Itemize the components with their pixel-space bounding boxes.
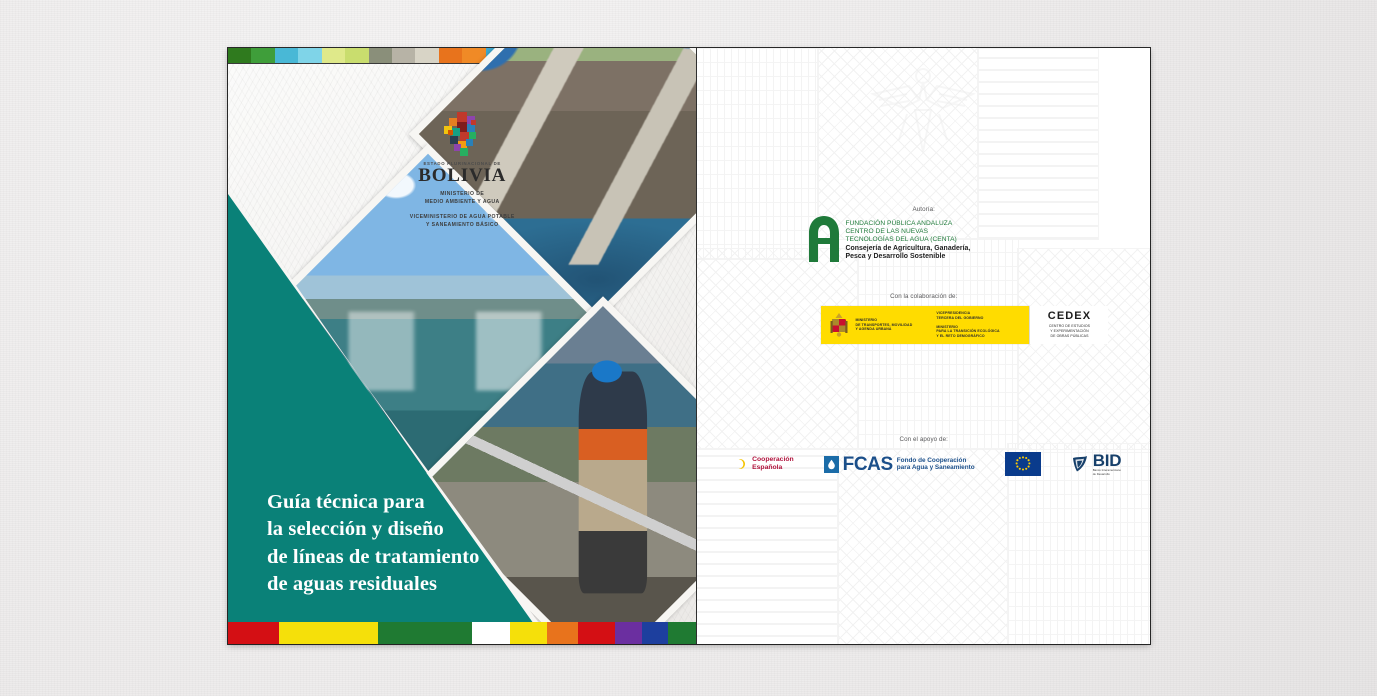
- cover-title: Guía técnica para la selección y diseño …: [267, 489, 597, 598]
- viceministry-block: VICEMINISTERIO DE AGUA POTABLE Y SANEAMI…: [228, 214, 696, 230]
- support-caption: Con el apoyo de:: [697, 436, 1150, 443]
- top-strip-segment: [275, 48, 298, 63]
- collaboration-caption: Con la colaboración de:: [697, 293, 1150, 300]
- bottom-bar-segment: [615, 622, 641, 644]
- ministry-block: MINISTERIO DE MEDIO AMBIENTE Y AGUA: [228, 191, 696, 207]
- supporter-logos-row: Cooperación Española FCAS Fondo de Coope…: [697, 452, 1150, 477]
- fcas-subtitle: Fondo de Cooperación para Agua y Saneami…: [897, 457, 975, 472]
- bottom-bar-segment: [472, 622, 509, 644]
- cover-title-line-4: de aguas residuales: [267, 571, 597, 598]
- viceministry-line-1: VICEMINISTERIO DE AGUA POTABLE: [228, 214, 696, 222]
- andalucia-text-block: FUNDACIÓN PÚBLICA ANDALUZA CENTRO DE LAS…: [845, 216, 970, 262]
- bottom-bar-segment: [378, 622, 473, 644]
- top-strip-segment: [345, 48, 368, 63]
- cover-title-line-3: de líneas de tratamiento: [267, 544, 597, 571]
- bottom-bar-segment: [228, 622, 279, 644]
- andalucia-arch-icon: [809, 216, 839, 262]
- top-strip-segment: [415, 48, 438, 63]
- cooperacion-espanola-icon: [726, 453, 748, 475]
- bottom-color-bar: [228, 622, 696, 644]
- eu-flag-icon: [1005, 452, 1041, 476]
- ministerio-transportes-text: MINISTERIO DE TRANSPORTES, MOVILIDAD Y A…: [855, 318, 912, 333]
- authoria-caption: Autoría:: [697, 206, 1150, 213]
- andalucia-line-3: TECNOLOGÍAS DEL AGUA (CENTA): [845, 236, 970, 244]
- top-strip-segment: [298, 48, 321, 63]
- cedex-lockup: CEDEX CENTRO DE ESTUDIOS Y EXPERIMENTACI…: [1029, 306, 1108, 344]
- cooperacion-espanola-lockup: Cooperación Española: [726, 453, 794, 475]
- fcas-lockup: FCAS Fondo de Cooperación para Agua y Sa…: [824, 455, 975, 474]
- fcas-line-1: Fondo de Cooperación: [897, 457, 975, 465]
- bolivia-coat-of-arms-icon: [438, 110, 486, 158]
- ministry-line-2: MEDIO AMBIENTE Y AGUA: [228, 199, 696, 207]
- andalucia-bold-line-1: Consejería de Agricultura, Ganadería,: [845, 245, 970, 254]
- top-strip-segment: [322, 48, 345, 63]
- back-cover-page: Autoría: FUNDACIÓN PÚBLICA ANDALUZA CENT…: [696, 48, 1150, 644]
- bid-text-block: BID Banco Interamericano de Desarrollo: [1093, 452, 1122, 477]
- top-strip-segment: [251, 48, 274, 63]
- bottom-bar-segment: [668, 622, 697, 644]
- gobierno-de-espana-band: MINISTERIO DE TRANSPORTES, MOVILIDAD Y A…: [821, 306, 1029, 344]
- gob-col2b-line-3: Y EL RETO DEMOGRÁFICO: [936, 334, 999, 339]
- bottom-bar-segment: [642, 622, 668, 644]
- cedex-sub-line-3: DE OBRAS PÚBLICAS: [1049, 334, 1090, 339]
- bid-sub-line-2: de Desarrollo: [1093, 473, 1122, 477]
- credits-block: Autoría: FUNDACIÓN PÚBLICA ANDALUZA CENT…: [697, 48, 1150, 644]
- cover-title-line-1: Guía técnica para: [267, 489, 597, 516]
- cedex-wordmark: CEDEX: [1048, 311, 1091, 322]
- andalucia-line-1: FUNDACIÓN PÚBLICA ANDALUZA: [845, 220, 970, 228]
- andalucia-bold-line-2: Pesca y Desarrollo Sostenible: [845, 253, 970, 262]
- top-strip-segment: [369, 48, 392, 63]
- bolivia-government-lockup: ESTADO PLURINACIONAL DE BOLIVIA MINISTER…: [228, 110, 696, 230]
- fcas-wordmark: FCAS: [843, 455, 893, 474]
- andalucia-lockup: FUNDACIÓN PÚBLICA ANDALUZA CENTRO DE LAS…: [809, 216, 970, 262]
- bottom-bar-segment: [578, 622, 615, 644]
- bid-wordmark: BID: [1093, 452, 1122, 469]
- bottom-bar-segment: [547, 622, 578, 644]
- bottom-bar-segment: [279, 622, 378, 644]
- book-cover-spread: ESTADO PLURINACIONAL DE BOLIVIA MINISTER…: [228, 48, 1150, 644]
- top-strip-segment: [439, 48, 462, 63]
- coop-line-2: Española: [752, 464, 794, 472]
- fcas-line-2: para Agua y Saneamiento: [897, 464, 975, 472]
- cedex-subtitle: CENTRO DE ESTUDIOS Y EXPERIMENTACIÓN DE …: [1049, 324, 1090, 339]
- top-strip-segment: [392, 48, 415, 63]
- european-union-lockup: [1005, 452, 1041, 476]
- ministry-line-1: MINISTERIO DE: [228, 191, 696, 199]
- bid-icon: [1071, 455, 1089, 473]
- vicepresidencia-transicion-text: VICEPRESIDENCIA TERCERA DEL GOBIERNO MIN…: [936, 311, 999, 340]
- viceministry-line-2: Y SANEAMIENTO BÁSICO: [228, 222, 696, 230]
- cover-title-line-2: la selección y diseño: [267, 516, 597, 543]
- front-cover-page: ESTADO PLURINACIONAL DE BOLIVIA MINISTER…: [228, 48, 696, 644]
- gob-col1-line-3: Y AGENDA URBANA: [855, 327, 912, 332]
- top-strip-segment: [228, 48, 251, 63]
- bid-lockup: BID Banco Interamericano de Desarrollo: [1071, 452, 1122, 477]
- water-drop-icon: [824, 456, 839, 473]
- spain-coat-of-arms-icon: [829, 312, 849, 338]
- bottom-bar-segment: [510, 622, 547, 644]
- coop-line-1: Cooperación: [752, 456, 794, 464]
- cooperacion-espanola-text: Cooperación Española: [752, 456, 794, 472]
- bolivia-wordmark: BOLIVIA: [228, 166, 696, 185]
